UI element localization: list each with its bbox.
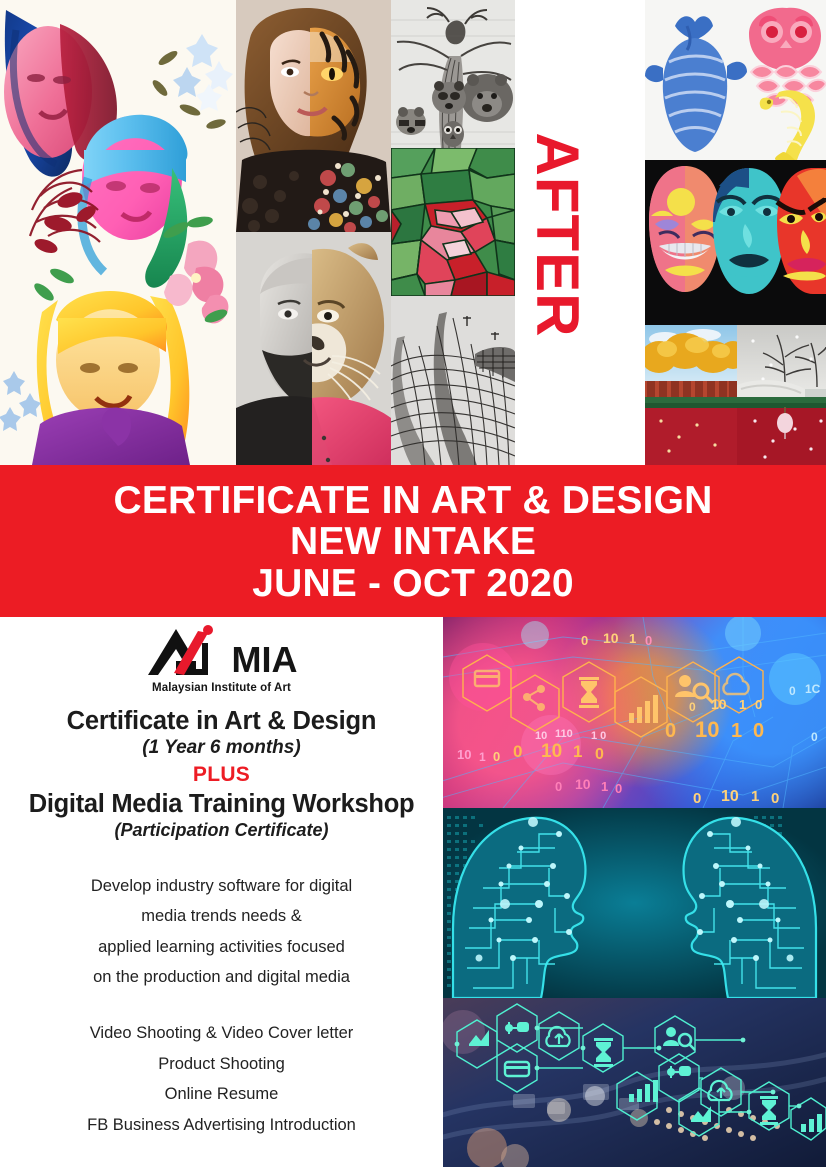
description-line: Develop industry software for digital [12,871,431,901]
artwork-flat-sea-creatures-painting [645,0,826,160]
media-panel-digital-data-hexagons-image: 0 10 1 0 0 10 1 0 0 10 1 0 10 1 [443,617,826,808]
mia-logo: MIA Malaysian Institute of Art [12,625,431,694]
three-masks-svg [645,160,826,325]
description-line: on the production and digital media [12,962,431,992]
stained-glass-rose-svg [391,148,515,296]
lower-section: MIA Malaysian Institute of Art Certifica… [0,617,826,1167]
mia-wordmark: MIA [232,643,298,679]
svg-text:10: 10 [603,630,619,646]
autumn-winter-svg [645,325,826,465]
svg-text:0: 0 [665,720,676,742]
svg-text:1: 1 [751,788,759,805]
artwork-architecture-ink-sketch [391,296,515,465]
svg-text:10: 10 [711,696,727,712]
circuit-heads-svg [443,808,826,998]
svg-text:1 0: 1 0 [591,730,606,742]
colourful-portraits-svg [0,0,236,465]
architecture-sketch-svg [391,296,515,465]
svg-text:10: 10 [575,776,591,792]
banner-line-2: NEW INTAKE [290,521,536,562]
svg-text:0: 0 [693,790,701,807]
workshop-note: (Participation Certificate) [12,820,431,841]
svg-text:10: 10 [535,730,547,742]
module-line: Product Shooting [12,1049,431,1079]
svg-text:0: 0 [689,700,696,714]
svg-text:0: 0 [771,790,779,807]
svg-text:0: 0 [755,697,762,712]
svg-text:1: 1 [601,779,608,794]
svg-text:0: 0 [493,749,500,764]
artwork-three-expression-masks-painting [645,160,826,325]
lion-man-svg [236,232,391,465]
svg-text:10: 10 [457,747,471,762]
svg-text:1: 1 [479,750,486,764]
network-icon [523,685,545,711]
sea-creatures-svg [645,0,826,160]
artwork-autumn-winter-landscape-painting [645,325,826,465]
svg-text:0: 0 [555,779,562,794]
workshop-title: Digital Media Training Workshop [12,790,431,819]
svg-text:0: 0 [645,633,652,648]
user-search-icon [675,675,713,703]
svg-text:0: 0 [615,781,622,796]
artwork-stained-glass-rose-painting [391,148,515,296]
artwork-lion-man-portrait [236,232,391,465]
tiger-girl-svg [236,0,391,232]
module-line: Online Resume [12,1079,431,1109]
svg-text:0: 0 [789,684,796,698]
svg-text:10: 10 [721,788,739,805]
modules-block: Video Shooting & Video Cover letter Prod… [12,1018,431,1139]
module-line: FB Business Advertising Introduction [12,1110,431,1140]
svg-text:0: 0 [513,742,522,761]
mia-logo-row: MIA [146,625,298,679]
plus-label: PLUS [12,763,431,787]
svg-text:0: 0 [753,720,764,742]
program-title: Certificate in Art & Design [12,707,431,736]
program-duration: (1 Year 6 months) [12,737,431,759]
banner-line-1: CERTIFICATE IN ART & DESIGN [113,480,712,521]
svg-text:0: 0 [811,730,818,744]
svg-text:0: 0 [581,633,588,648]
artwork-colourful-female-portraits-illustration [0,0,236,465]
svg-text:1: 1 [739,697,746,712]
artwork-collage: AFTER BEFORE [0,0,826,465]
hourglass-icon [579,677,599,708]
artwork-tiger-girl-portrait [236,0,391,232]
artwork-pen-animals-drawing [391,0,515,148]
svg-text:1: 1 [731,720,742,742]
media-panel-circuit-board-hex-icons-image [443,998,826,1167]
description-line: applied learning activities focused [12,932,431,962]
media-image-stack: 0 10 1 0 0 10 1 0 0 10 1 0 10 1 [443,617,826,1167]
svg-text:1: 1 [629,631,636,646]
media-panel-circuit-head-profiles-image [443,808,826,998]
svg-text:1C: 1C [805,682,821,696]
before-after-divider-strip [515,0,645,465]
svg-text:1: 1 [573,742,582,761]
banner-line-3: JUNE - OCT 2020 [252,563,574,604]
description-block: Develop industry software for digital me… [12,871,431,992]
module-line: Video Shooting & Video Cover letter [12,1018,431,1048]
cloud-icon [723,674,748,694]
description-line: media trends needs & [12,901,431,931]
circuit-board-hex-svg [443,998,826,1167]
digital-data-hexagons-svg: 0 10 1 0 0 10 1 0 0 10 1 0 10 1 [443,617,826,808]
pen-animals-svg [391,0,515,148]
intake-banner: CERTIFICATE IN ART & DESIGN NEW INTAKE J… [0,465,826,617]
svg-text:0: 0 [595,746,604,763]
mia-monogram-icon [146,625,224,679]
bar-chart-icon [629,695,658,723]
mia-subtitle: Malaysian Institute of Art [152,682,291,694]
info-column: MIA Malaysian Institute of Art Certifica… [0,617,443,1167]
svg-text:110: 110 [555,728,573,740]
poster-root: AFTER BEFORE [0,0,826,1167]
svg-text:10: 10 [695,717,719,742]
svg-text:10: 10 [541,741,562,762]
